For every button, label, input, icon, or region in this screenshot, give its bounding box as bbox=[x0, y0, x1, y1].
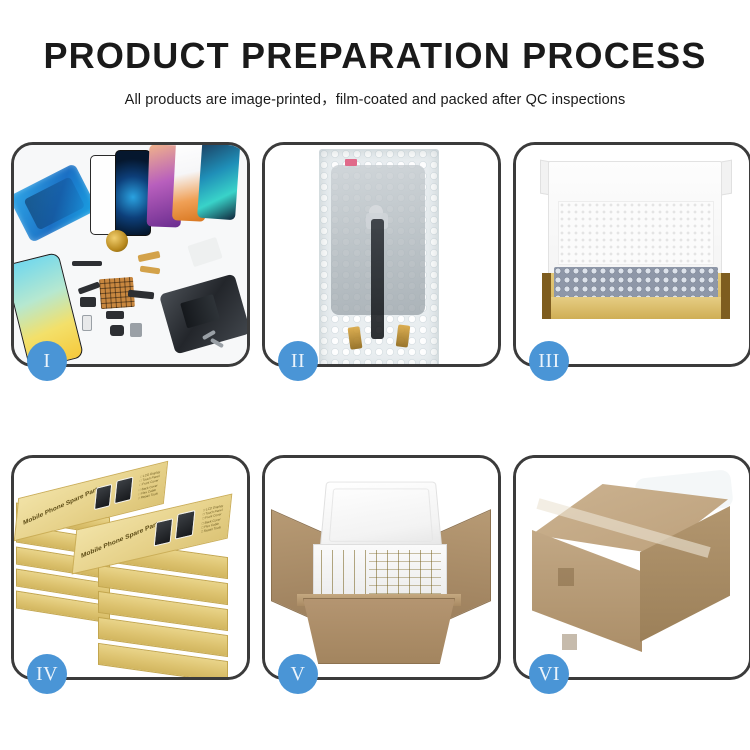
spare-part-graphic bbox=[110, 325, 124, 336]
process-step-panel-3: III bbox=[513, 142, 750, 367]
kraft-tray-end-graphic bbox=[542, 273, 551, 319]
step-badge-5: V bbox=[278, 654, 318, 694]
step-6-image bbox=[516, 458, 749, 677]
process-step-panel-1: I bbox=[11, 142, 250, 367]
step-5-image bbox=[265, 458, 498, 677]
spare-part-graphic bbox=[140, 266, 161, 275]
carton-tab-graphic bbox=[562, 634, 577, 650]
inner-boxes-graphic bbox=[369, 548, 441, 594]
gold-contact-graphic bbox=[348, 326, 363, 349]
process-step-panel-4: Mobile Phone Spare Parts □ LCD Display□ … bbox=[11, 455, 250, 680]
product-preparation-infographic: PRODUCT PREPARATION PROCESS All products… bbox=[0, 0, 750, 750]
box-window-graphic bbox=[94, 484, 112, 511]
spare-part-graphic bbox=[72, 261, 102, 266]
header: PRODUCT PREPARATION PROCESS All products… bbox=[0, 0, 750, 109]
bubble-wrap-graphic bbox=[319, 149, 439, 364]
box-stack-graphic: Mobile Phone Spare Parts □ LCD Display□ … bbox=[14, 476, 247, 676]
foam-lid-graphic bbox=[320, 482, 443, 551]
box-checklist: □ LCD Display□ Touch Panel□ Front Cover□… bbox=[138, 470, 161, 501]
step-4-image: Mobile Phone Spare Parts □ LCD Display□ … bbox=[14, 458, 247, 677]
bubble-wrapped-items-graphic bbox=[554, 267, 718, 301]
tweezers-graphic bbox=[187, 237, 222, 267]
page-title: PRODUCT PREPARATION PROCESS bbox=[0, 0, 750, 74]
step-3-image bbox=[516, 145, 749, 364]
spare-part-graphic bbox=[106, 311, 124, 319]
lcd-label-tab-graphic bbox=[345, 159, 357, 166]
box-window-graphic bbox=[114, 476, 133, 504]
step-2-image bbox=[265, 145, 498, 364]
step-badge-3: III bbox=[529, 341, 569, 381]
box-checklist: □ LCD Display□ Touch Panel□ Front Cover□… bbox=[201, 504, 224, 534]
process-step-grid: I II bbox=[11, 142, 740, 680]
step-badge-6: VI bbox=[529, 654, 569, 694]
carton-body-graphic bbox=[303, 598, 455, 664]
phone-screen-blue-graphic bbox=[115, 150, 151, 236]
foam-sheet-graphic bbox=[558, 201, 714, 265]
carton-tab-graphic bbox=[558, 568, 574, 586]
process-step-panel-5: V bbox=[262, 455, 501, 680]
step-1-image bbox=[14, 145, 247, 364]
box-window-graphic bbox=[154, 518, 174, 547]
kraft-tray-front-graphic bbox=[542, 297, 730, 319]
step-badge-2: II bbox=[278, 341, 318, 381]
box-brand-label: Mobile Phone Spare Parts bbox=[23, 485, 101, 527]
phone-screen-teal-graphic bbox=[197, 145, 241, 220]
speaker-coil-graphic bbox=[106, 230, 128, 252]
flex-cable-graphic bbox=[371, 219, 384, 339]
spare-part-graphic bbox=[80, 297, 96, 307]
gold-contact-graphic bbox=[396, 324, 411, 347]
process-step-panel-6: VI bbox=[513, 455, 750, 680]
box-brand-label: Mobile Phone Spare Parts bbox=[81, 519, 162, 560]
spare-part-graphic bbox=[78, 281, 101, 294]
spare-part-graphic bbox=[138, 251, 161, 262]
page-subtitle: All products are image-printed，film-coat… bbox=[0, 74, 750, 109]
kraft-tray-end-graphic bbox=[721, 273, 730, 319]
spare-part-graphic bbox=[82, 315, 92, 331]
step-badge-4: IV bbox=[27, 654, 67, 694]
phone-motherboard-graphic bbox=[159, 273, 247, 354]
adhesive-sheet-graphic bbox=[14, 163, 98, 243]
process-step-panel-2: II bbox=[262, 142, 501, 367]
spare-part-graphic bbox=[130, 323, 142, 337]
step-badge-1: I bbox=[27, 341, 67, 381]
box-window-graphic bbox=[175, 510, 196, 540]
